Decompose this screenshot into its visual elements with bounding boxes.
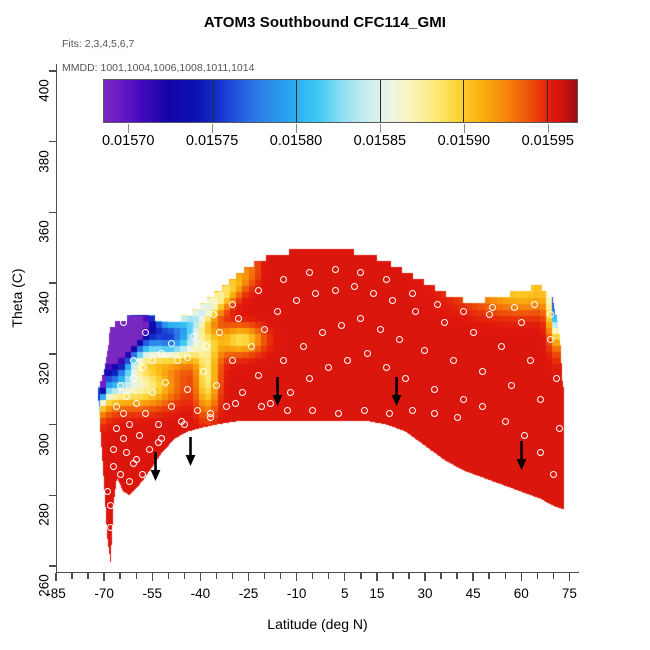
x-tick-major: [152, 573, 153, 581]
data-point-marker: [155, 439, 162, 446]
data-point-marker: [511, 304, 518, 311]
data-point-marker: [155, 421, 162, 428]
x-tick-minor: [264, 573, 265, 579]
data-point-marker: [434, 301, 441, 308]
data-point-marker: [312, 290, 319, 297]
data-point-marker: [142, 410, 149, 417]
data-point-marker: [117, 382, 124, 389]
x-tick-minor: [408, 573, 409, 579]
data-point-marker: [460, 396, 467, 403]
y-tick-label: 280: [37, 492, 52, 538]
data-point-marker: [130, 375, 137, 382]
x-axis-title: Latitude (deg N): [56, 616, 579, 632]
x-tick-minor: [168, 573, 169, 579]
data-point-marker: [553, 375, 560, 382]
data-point-marker: [123, 449, 130, 456]
data-point-marker: [104, 488, 111, 495]
data-point-marker: [396, 336, 403, 343]
x-tick-major: [569, 573, 570, 581]
x-tick-minor: [488, 573, 489, 579]
y-tick-label: 400: [37, 68, 52, 114]
data-point-marker: [344, 357, 351, 364]
data-point-marker: [287, 389, 294, 396]
data-point-marker: [120, 435, 127, 442]
data-point-marker: [489, 304, 496, 311]
data-point-marker: [280, 357, 287, 364]
data-point-marker: [162, 379, 169, 386]
data-point-marker: [531, 301, 538, 308]
x-tick-major: [103, 573, 104, 581]
data-point-marker: [120, 319, 127, 326]
data-point-marker: [200, 368, 207, 375]
data-point-marker: [248, 343, 255, 350]
data-point-marker: [113, 425, 120, 432]
y-tick-label: 340: [37, 280, 52, 326]
data-point-marker: [300, 343, 307, 350]
data-point-marker: [210, 311, 217, 318]
x-tick-minor: [505, 573, 506, 579]
data-point-marker: [130, 357, 137, 364]
data-point-marker: [203, 343, 210, 350]
x-tick-major: [344, 573, 345, 581]
x-tick-major: [248, 573, 249, 581]
data-point-marker: [409, 407, 416, 414]
data-point-marker: [136, 432, 143, 439]
data-point-marker: [184, 354, 191, 361]
x-tick-minor: [328, 573, 329, 579]
data-point-marker: [207, 410, 214, 417]
data-point-marker: [502, 418, 509, 425]
data-point-marker: [133, 400, 140, 407]
x-tick-major: [376, 573, 377, 581]
x-tick-minor: [136, 573, 137, 579]
data-point-marker: [126, 478, 133, 485]
data-point-marker: [479, 403, 486, 410]
data-point-marker: [450, 357, 457, 364]
data-point-marker: [113, 403, 120, 410]
data-point-marker: [351, 283, 358, 290]
data-point-marker: [123, 393, 130, 400]
data-point-marker: [223, 403, 230, 410]
data-point-marker: [319, 329, 326, 336]
data-point-marker: [258, 403, 265, 410]
data-point-marker: [120, 410, 127, 417]
data-point-marker: [229, 357, 236, 364]
x-tick-minor: [553, 573, 554, 579]
data-point-marker: [335, 410, 342, 417]
data-point-marker: [357, 315, 364, 322]
data-point-marker: [431, 386, 438, 393]
data-point-marker: [537, 396, 544, 403]
data-point-marker: [357, 269, 364, 276]
data-point-marker: [107, 524, 114, 531]
data-point-marker: [508, 382, 515, 389]
page-title: ATOM3 Southbound CFC114_GMI: [0, 14, 650, 31]
y-axis-title: Theta (C): [9, 253, 25, 343]
data-point-marker: [107, 502, 114, 509]
data-point-marker: [149, 357, 156, 364]
data-point-marker: [149, 389, 156, 396]
data-point-marker: [168, 403, 175, 410]
data-point-marker: [293, 297, 300, 304]
data-point-marker: [527, 357, 534, 364]
x-tick-minor: [87, 573, 88, 579]
data-point-marker: [139, 471, 146, 478]
data-point-marker: [306, 375, 313, 382]
data-point-marker: [421, 347, 428, 354]
x-tick-minor: [456, 573, 457, 579]
data-point-marker: [213, 382, 220, 389]
data-point-marker: [158, 350, 165, 357]
data-point-marker: [498, 343, 505, 350]
y-tick-label: 380: [37, 138, 52, 184]
data-point-marker: [325, 364, 332, 371]
data-point-marker: [110, 463, 117, 470]
data-point-marker: [232, 400, 239, 407]
data-point-marker: [139, 364, 146, 371]
data-point-marker: [383, 364, 390, 371]
plot-root: ATOM3 Southbound CFC114_GMI Fits: 2,3,4,…: [0, 0, 650, 650]
boundary-arrow: [185, 437, 196, 467]
data-point-marker: [537, 449, 544, 456]
data-point-marker: [332, 287, 339, 294]
data-point-marker: [361, 407, 368, 414]
x-tick-label: 75: [541, 586, 597, 601]
data-point-marker: [364, 350, 371, 357]
y-tick-label: 320: [37, 350, 52, 396]
data-point-marker: [547, 336, 554, 343]
x-tick-major: [200, 573, 201, 581]
x-tick-minor: [392, 573, 393, 579]
data-point-marker: [338, 322, 345, 329]
data-point-marker: [470, 329, 477, 336]
data-point-marker: [117, 471, 124, 478]
data-point-marker: [280, 276, 287, 283]
data-point-marker: [194, 407, 201, 414]
data-point-marker: [181, 421, 188, 428]
data-point-marker: [479, 368, 486, 375]
x-tick-minor: [119, 573, 120, 579]
x-tick-minor: [440, 573, 441, 579]
data-point-marker: [441, 319, 448, 326]
data-point-marker: [377, 326, 384, 333]
x-tick-major: [55, 573, 56, 581]
data-point-marker: [306, 269, 313, 276]
data-point-marker: [130, 460, 137, 467]
data-point-markers: [56, 64, 579, 573]
x-tick-minor: [280, 573, 281, 579]
x-tick-major: [296, 573, 297, 581]
data-point-marker: [216, 329, 223, 336]
data-point-marker: [168, 340, 175, 347]
x-tick-major: [472, 573, 473, 581]
x-tick-minor: [312, 573, 313, 579]
data-point-marker: [229, 301, 236, 308]
data-point-marker: [274, 308, 281, 315]
data-point-marker: [454, 414, 461, 421]
x-tick-minor: [360, 573, 361, 579]
data-point-marker: [521, 432, 528, 439]
data-point-marker: [412, 308, 419, 315]
data-point-marker: [431, 410, 438, 417]
data-point-marker: [518, 319, 525, 326]
y-tick-label: 300: [37, 421, 52, 467]
fits-annotation: Fits: 2,3,4,5,6,7: [62, 38, 134, 50]
data-point-marker: [126, 421, 133, 428]
data-point-marker: [309, 407, 316, 414]
x-tick-minor: [537, 573, 538, 579]
data-point-marker: [556, 425, 563, 432]
data-point-marker: [386, 410, 393, 417]
data-point-marker: [486, 311, 493, 318]
data-point-marker: [142, 329, 149, 336]
data-point-marker: [402, 375, 409, 382]
data-point-marker: [284, 407, 291, 414]
data-point-marker: [255, 372, 262, 379]
data-point-marker: [235, 315, 242, 322]
x-tick-minor: [71, 573, 72, 579]
x-tick-minor: [184, 573, 185, 579]
data-point-marker: [550, 471, 557, 478]
boundary-arrow: [150, 452, 161, 482]
data-point-marker: [383, 276, 390, 283]
boundary-arrow: [391, 377, 402, 407]
plot-area: [56, 64, 579, 573]
boundary-arrow: [272, 377, 283, 407]
data-point-marker: [332, 266, 339, 273]
x-tick-major: [424, 573, 425, 581]
data-point-marker: [370, 290, 377, 297]
x-tick-minor: [232, 573, 233, 579]
data-point-marker: [255, 287, 262, 294]
data-point-marker: [389, 297, 396, 304]
data-point-marker: [547, 311, 554, 318]
data-point-marker: [409, 290, 416, 297]
data-point-marker: [110, 446, 117, 453]
x-tick-minor: [216, 573, 217, 579]
x-tick-major: [521, 573, 522, 581]
data-point-marker: [239, 389, 246, 396]
data-point-marker: [190, 333, 197, 340]
y-tick-label: 360: [37, 209, 52, 255]
data-point-marker: [174, 357, 181, 364]
boundary-arrow: [516, 441, 527, 471]
data-point-marker: [184, 386, 191, 393]
data-point-marker: [261, 326, 268, 333]
data-point-marker: [460, 308, 467, 315]
